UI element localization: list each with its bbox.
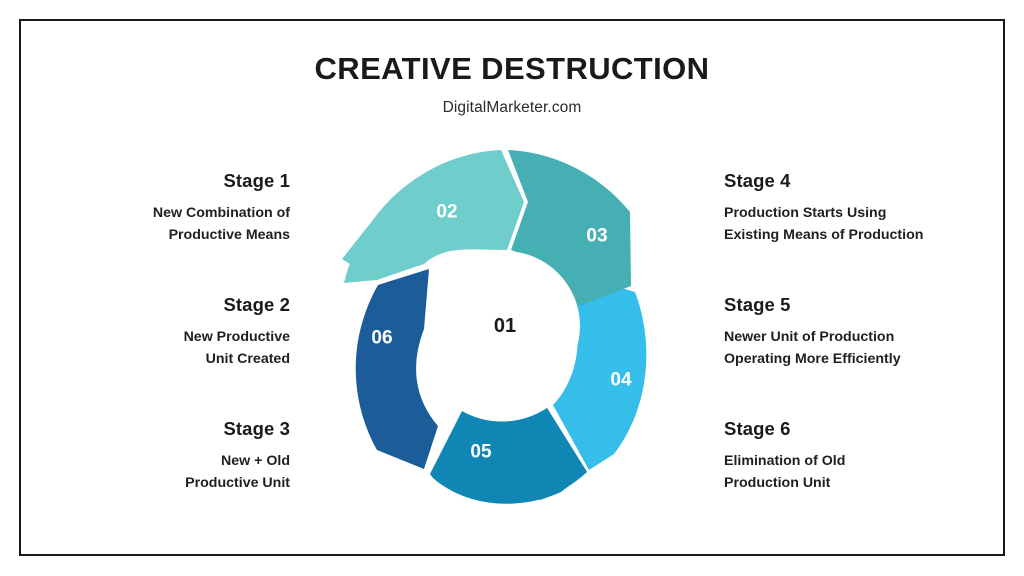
donut-center-label: 01 [494, 315, 516, 337]
stage-2-description-line-1: New Productive [0, 326, 290, 348]
donut-label-04: 04 [610, 370, 632, 391]
stage-6-title: Stage 6 [724, 418, 1014, 440]
stage-block-6: Stage 6 Elimination of Old Production Un… [724, 418, 1014, 494]
stage-5-description: Newer Unit of Production Operating More … [724, 326, 1014, 370]
stage-block-4: Stage 4 Production Starts Using Existing… [724, 170, 1014, 246]
stage-block-5: Stage 5 Newer Unit of Production Operati… [724, 294, 1014, 370]
stage-block-1: Stage 1 New Combination of Productive Me… [0, 170, 290, 246]
infographic-canvas: CREATIVE DESTRUCTION DigitalMarketer.com… [0, 0, 1024, 576]
donut-label-05: 05 [470, 442, 492, 463]
stage-block-2: Stage 2 New Productive Unit Created [0, 294, 290, 370]
stage-6-description: Elimination of Old Production Unit [724, 450, 1014, 494]
stage-2-description-line-2: Unit Created [0, 348, 290, 370]
stage-1-description: New Combination of Productive Means [0, 202, 290, 246]
page-title: CREATIVE DESTRUCTION [0, 52, 1024, 86]
stage-2-description: New Productive Unit Created [0, 326, 290, 370]
stage-block-3: Stage 3 New + Old Productive Unit [0, 418, 290, 494]
donut-label-02: 02 [436, 202, 457, 223]
stage-1-description-line-1: New Combination of [0, 202, 290, 224]
stage-3-description: New + Old Productive Unit [0, 450, 290, 494]
stage-6-description-line-2: Production Unit [724, 472, 1014, 494]
cycle-donut-chart: 01 02 03 04 05 06 [325, 140, 685, 512]
stage-5-description-line-1: Newer Unit of Production [724, 326, 1014, 348]
stage-4-description-line-1: Production Starts Using [724, 202, 1014, 224]
donut-svg: 01 02 03 04 05 06 [325, 140, 685, 512]
stage-3-description-line-1: New + Old [0, 450, 290, 472]
header: CREATIVE DESTRUCTION DigitalMarketer.com [0, 52, 1024, 117]
stage-4-description: Production Starts Using Existing Means o… [724, 202, 1014, 246]
stage-1-title: Stage 1 [0, 170, 290, 192]
stage-1-description-line-2: Productive Means [0, 224, 290, 246]
stage-3-title: Stage 3 [0, 418, 290, 440]
stage-6-description-line-1: Elimination of Old [724, 450, 1014, 472]
stage-2-title: Stage 2 [0, 294, 290, 316]
donut-segment-06[interactable] [356, 269, 438, 469]
donut-label-06: 06 [371, 328, 392, 349]
stage-5-description-line-2: Operating More Efficiently [724, 348, 1014, 370]
donut-label-03: 03 [586, 226, 607, 247]
stage-3-description-line-2: Productive Unit [0, 472, 290, 494]
stage-4-title: Stage 4 [724, 170, 1014, 192]
stage-5-title: Stage 5 [724, 294, 1014, 316]
page-subtitle: DigitalMarketer.com [0, 99, 1024, 117]
stage-4-description-line-2: Existing Means of Production [724, 224, 1014, 246]
